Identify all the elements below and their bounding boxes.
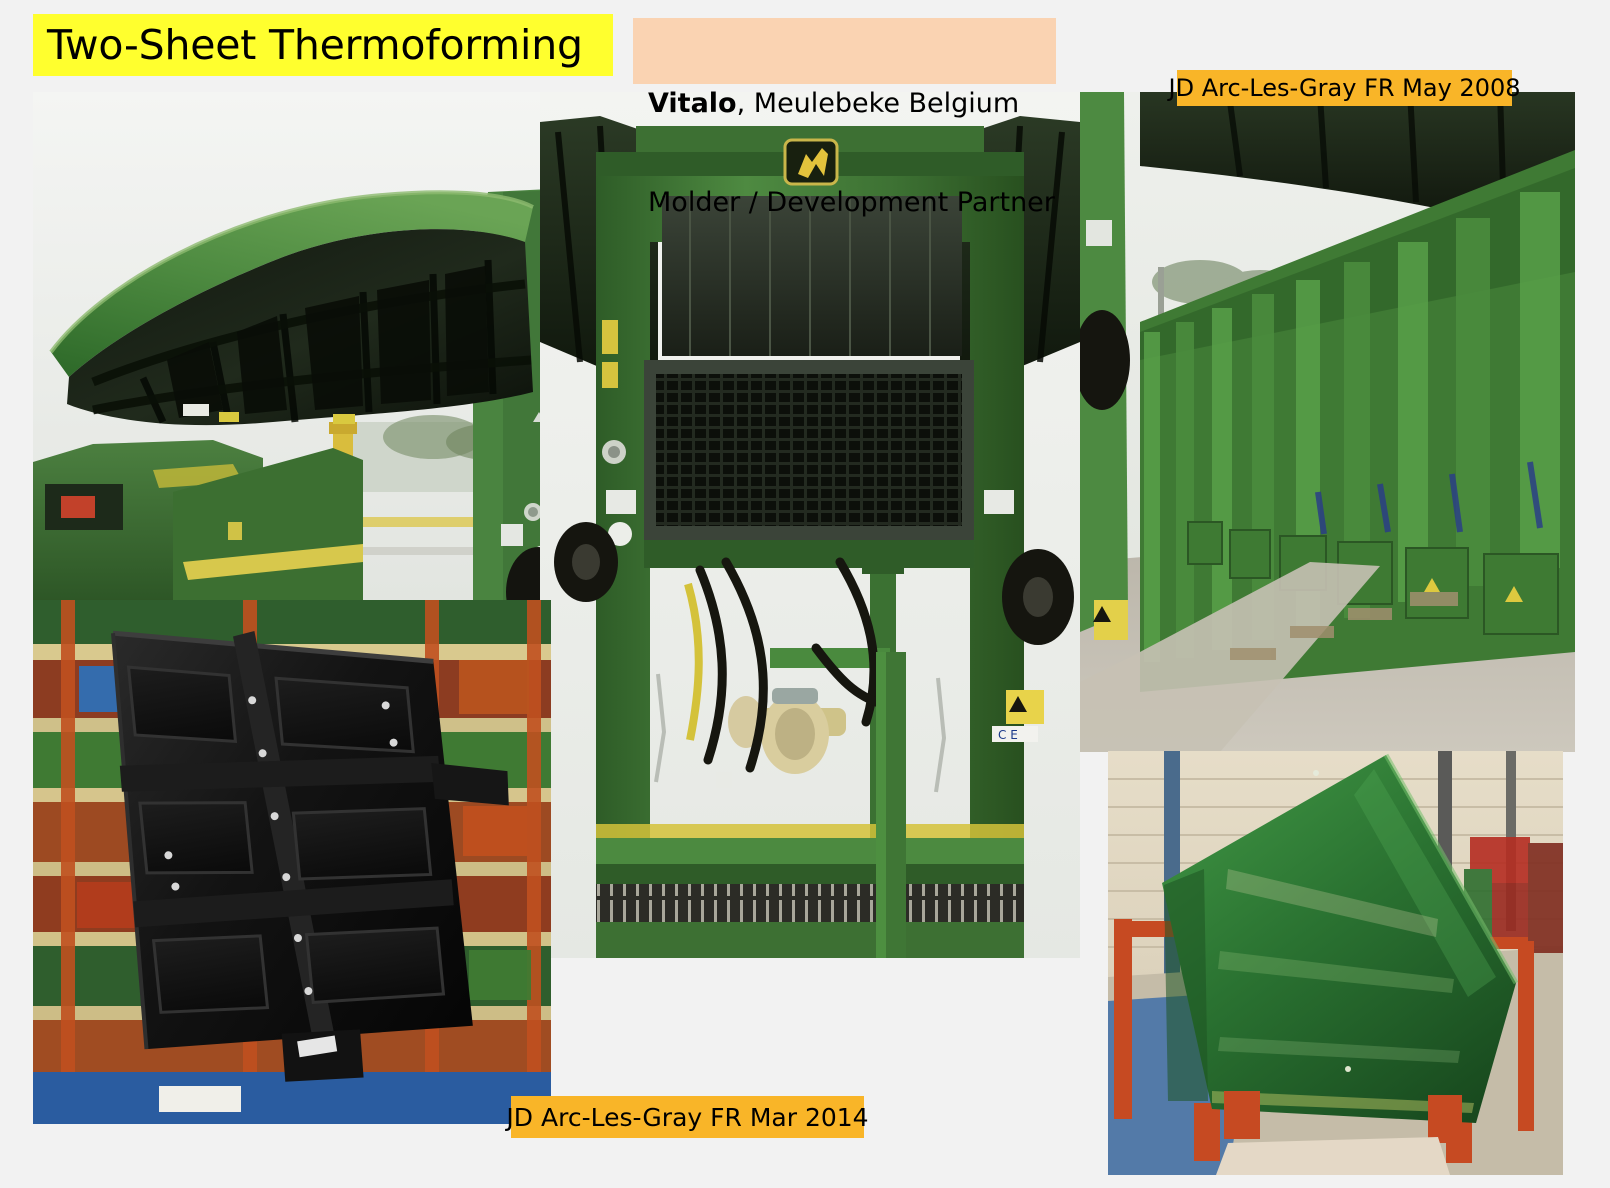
- slide-canvas: C E: [0, 0, 1610, 1188]
- partner-company: Vitalo: [648, 88, 737, 119]
- warning-sticker: [1006, 690, 1044, 724]
- partner-label: Vitalo, Meulebeke Belgium Molder / Devel…: [633, 18, 1056, 84]
- partner-location: , Meulebeke Belgium: [737, 88, 1020, 119]
- partner-role: Molder / Development Partner: [648, 186, 1056, 219]
- partner-line-1: Vitalo, Meulebeke Belgium: [648, 87, 1056, 120]
- photo-hood-open-left: [33, 92, 573, 602]
- badge-top-right: JD Arc-Les-Gray FR May 2008: [1177, 70, 1512, 106]
- photo-black-thermoformed-part: [33, 600, 551, 1124]
- svg-text:C E: C E: [998, 728, 1018, 742]
- photo-green-thermoformed-part: [1108, 751, 1563, 1175]
- page-title: Two-Sheet Thermoforming: [33, 14, 613, 76]
- photo-baler-row: [1080, 92, 1575, 752]
- badge-bottom-center: JD Arc-Les-Gray FR Mar 2014: [511, 1096, 864, 1138]
